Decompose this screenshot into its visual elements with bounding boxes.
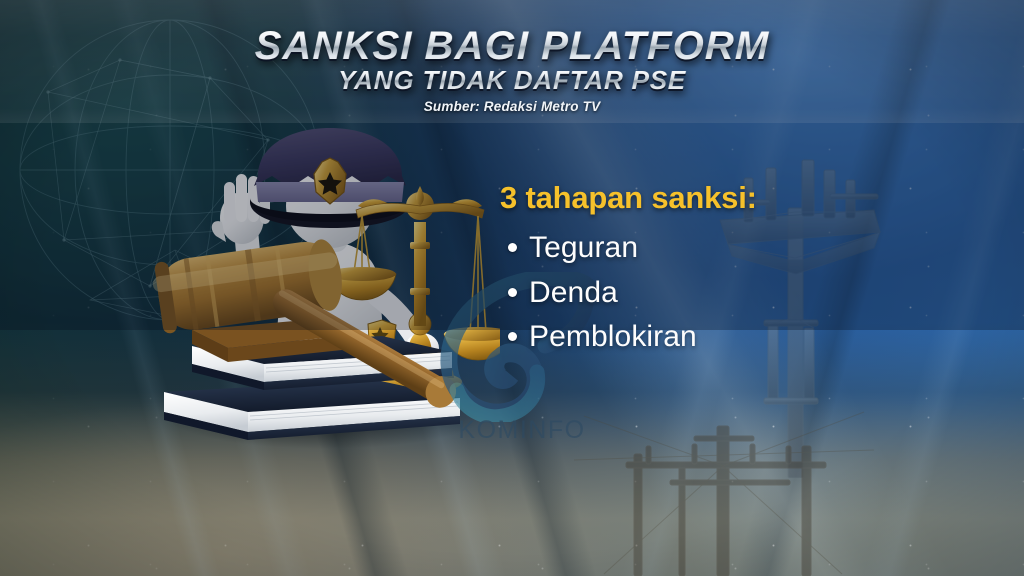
sanctions-content: 3 tahapan sanksi: Teguran Denda Pembloki… [500, 180, 920, 364]
list-item: Pemblokiran [508, 319, 920, 356]
sanctions-heading: 3 tahapan sanksi: [500, 180, 920, 216]
title-block: SANKSI BAGI PLATFORM YANG TIDAK DAFTAR P… [0, 26, 1024, 114]
bullet-dot-icon [508, 243, 517, 252]
bullet-dot-icon [508, 288, 517, 297]
headline-secondary: YANG TIDAK DAFTAR PSE [0, 67, 1024, 93]
broadcast-graphic-stage: KOMINFO SANKSI BAGI PLATFORM YANG TIDAK … [0, 0, 1024, 576]
list-item-label: Denda [529, 275, 618, 312]
list-item: Teguran [508, 230, 920, 267]
antenna-tower-icon [574, 406, 874, 576]
headline-primary: SANKSI BAGI PLATFORM [0, 26, 1024, 66]
list-item: Denda [508, 275, 920, 312]
list-item-label: Pemblokiran [529, 319, 697, 356]
bullet-dot-icon [508, 332, 517, 341]
band-bottom-overlay [0, 0, 1024, 123]
band-top-overlay [0, 0, 1024, 123]
list-item-label: Teguran [529, 230, 638, 267]
justice-illustration [130, 110, 500, 450]
